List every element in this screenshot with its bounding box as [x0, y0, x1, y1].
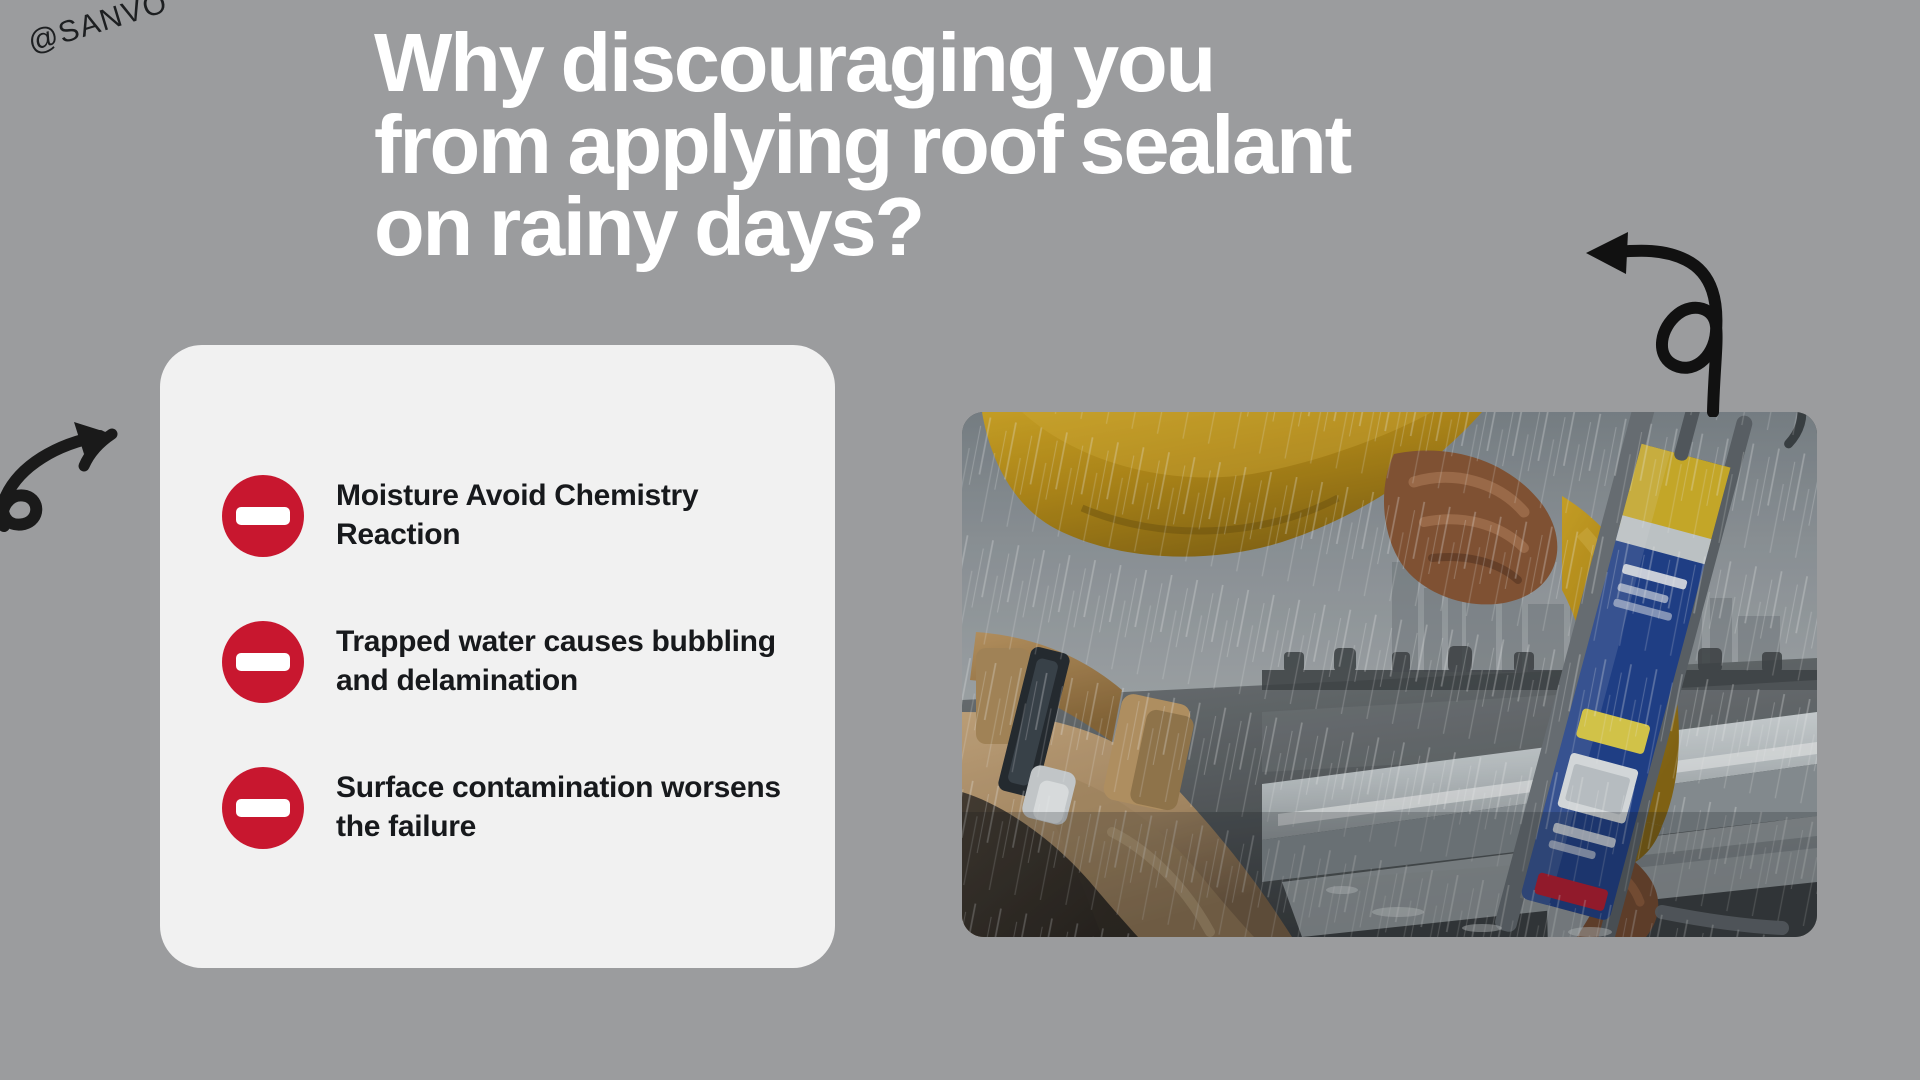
list-item: Moisture Avoid Chemistry Reaction: [222, 475, 795, 557]
curly-arrow-up-right-icon: [0, 408, 161, 538]
looped-arrow-left-icon: [1568, 222, 1768, 417]
curly-arrow-up-right-decoration: [0, 408, 161, 538]
list-item-label: Surface contamination worsens the failur…: [336, 769, 786, 846]
list-item: Surface contamination worsens the failur…: [222, 767, 795, 849]
list-item-label: Trapped water causes bubbling and delami…: [336, 623, 786, 700]
no-entry-icon: [222, 621, 304, 703]
roof-sealant-photo: [962, 412, 1817, 937]
list-item-label: Moisture Avoid Chemistry Reaction: [336, 477, 786, 554]
reasons-card: Moisture Avoid Chemistry Reaction Trappe…: [160, 345, 835, 968]
no-entry-icon: [222, 475, 304, 557]
poster-canvas: @SANVO Why discouraging you from applyin…: [0, 0, 1920, 1080]
brand-watermark: @SANVO: [24, 0, 172, 61]
no-entry-icon: [222, 767, 304, 849]
no-entry-bar: [236, 653, 290, 671]
no-entry-bar: [236, 507, 290, 525]
photo-illustration: [962, 412, 1817, 937]
list-item: Trapped water causes bubbling and delami…: [222, 621, 795, 703]
headline-line-3: on rainy days?: [374, 186, 1554, 268]
page-title: Why discouraging you from applying roof …: [374, 22, 1554, 268]
headline-line-2: from applying roof sealant: [374, 104, 1554, 186]
no-entry-bar: [236, 799, 290, 817]
looped-arrow-left-decoration: [1568, 222, 1768, 417]
headline-line-1: Why discouraging you: [374, 22, 1554, 104]
